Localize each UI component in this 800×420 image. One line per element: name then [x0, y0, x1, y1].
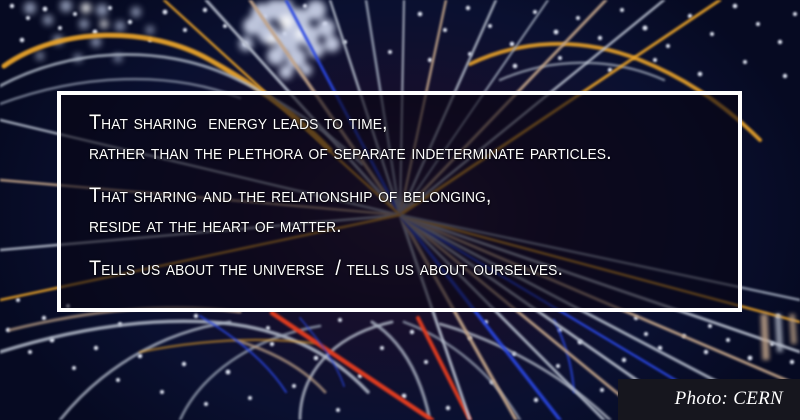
quote-line: That sharing energy leads to time, [89, 107, 677, 137]
quote-line: rather than the plethora of separate ind… [89, 137, 677, 167]
quote-line: reside at the heart of matter. [89, 210, 677, 240]
quote-line: Tells us about the universe / tells us a… [89, 253, 677, 283]
stanza-3: Tells us about the universe / tells us a… [89, 253, 728, 283]
photo-credit-bar: Photo: CERN [618, 379, 800, 420]
quote-box: That sharing energy leads to time, rathe… [57, 91, 742, 312]
quote-line: That sharing and the relationship of bel… [89, 180, 677, 210]
photo-credit-label: Photo: CERN [675, 388, 783, 410]
poster-image: That sharing energy leads to time, rathe… [0, 0, 800, 420]
quote-text-block: That sharing energy leads to time, rathe… [89, 107, 728, 283]
stanza-2: That sharing and the relationship of bel… [89, 180, 728, 240]
stanza-1: That sharing energy leads to time, rathe… [89, 107, 728, 167]
